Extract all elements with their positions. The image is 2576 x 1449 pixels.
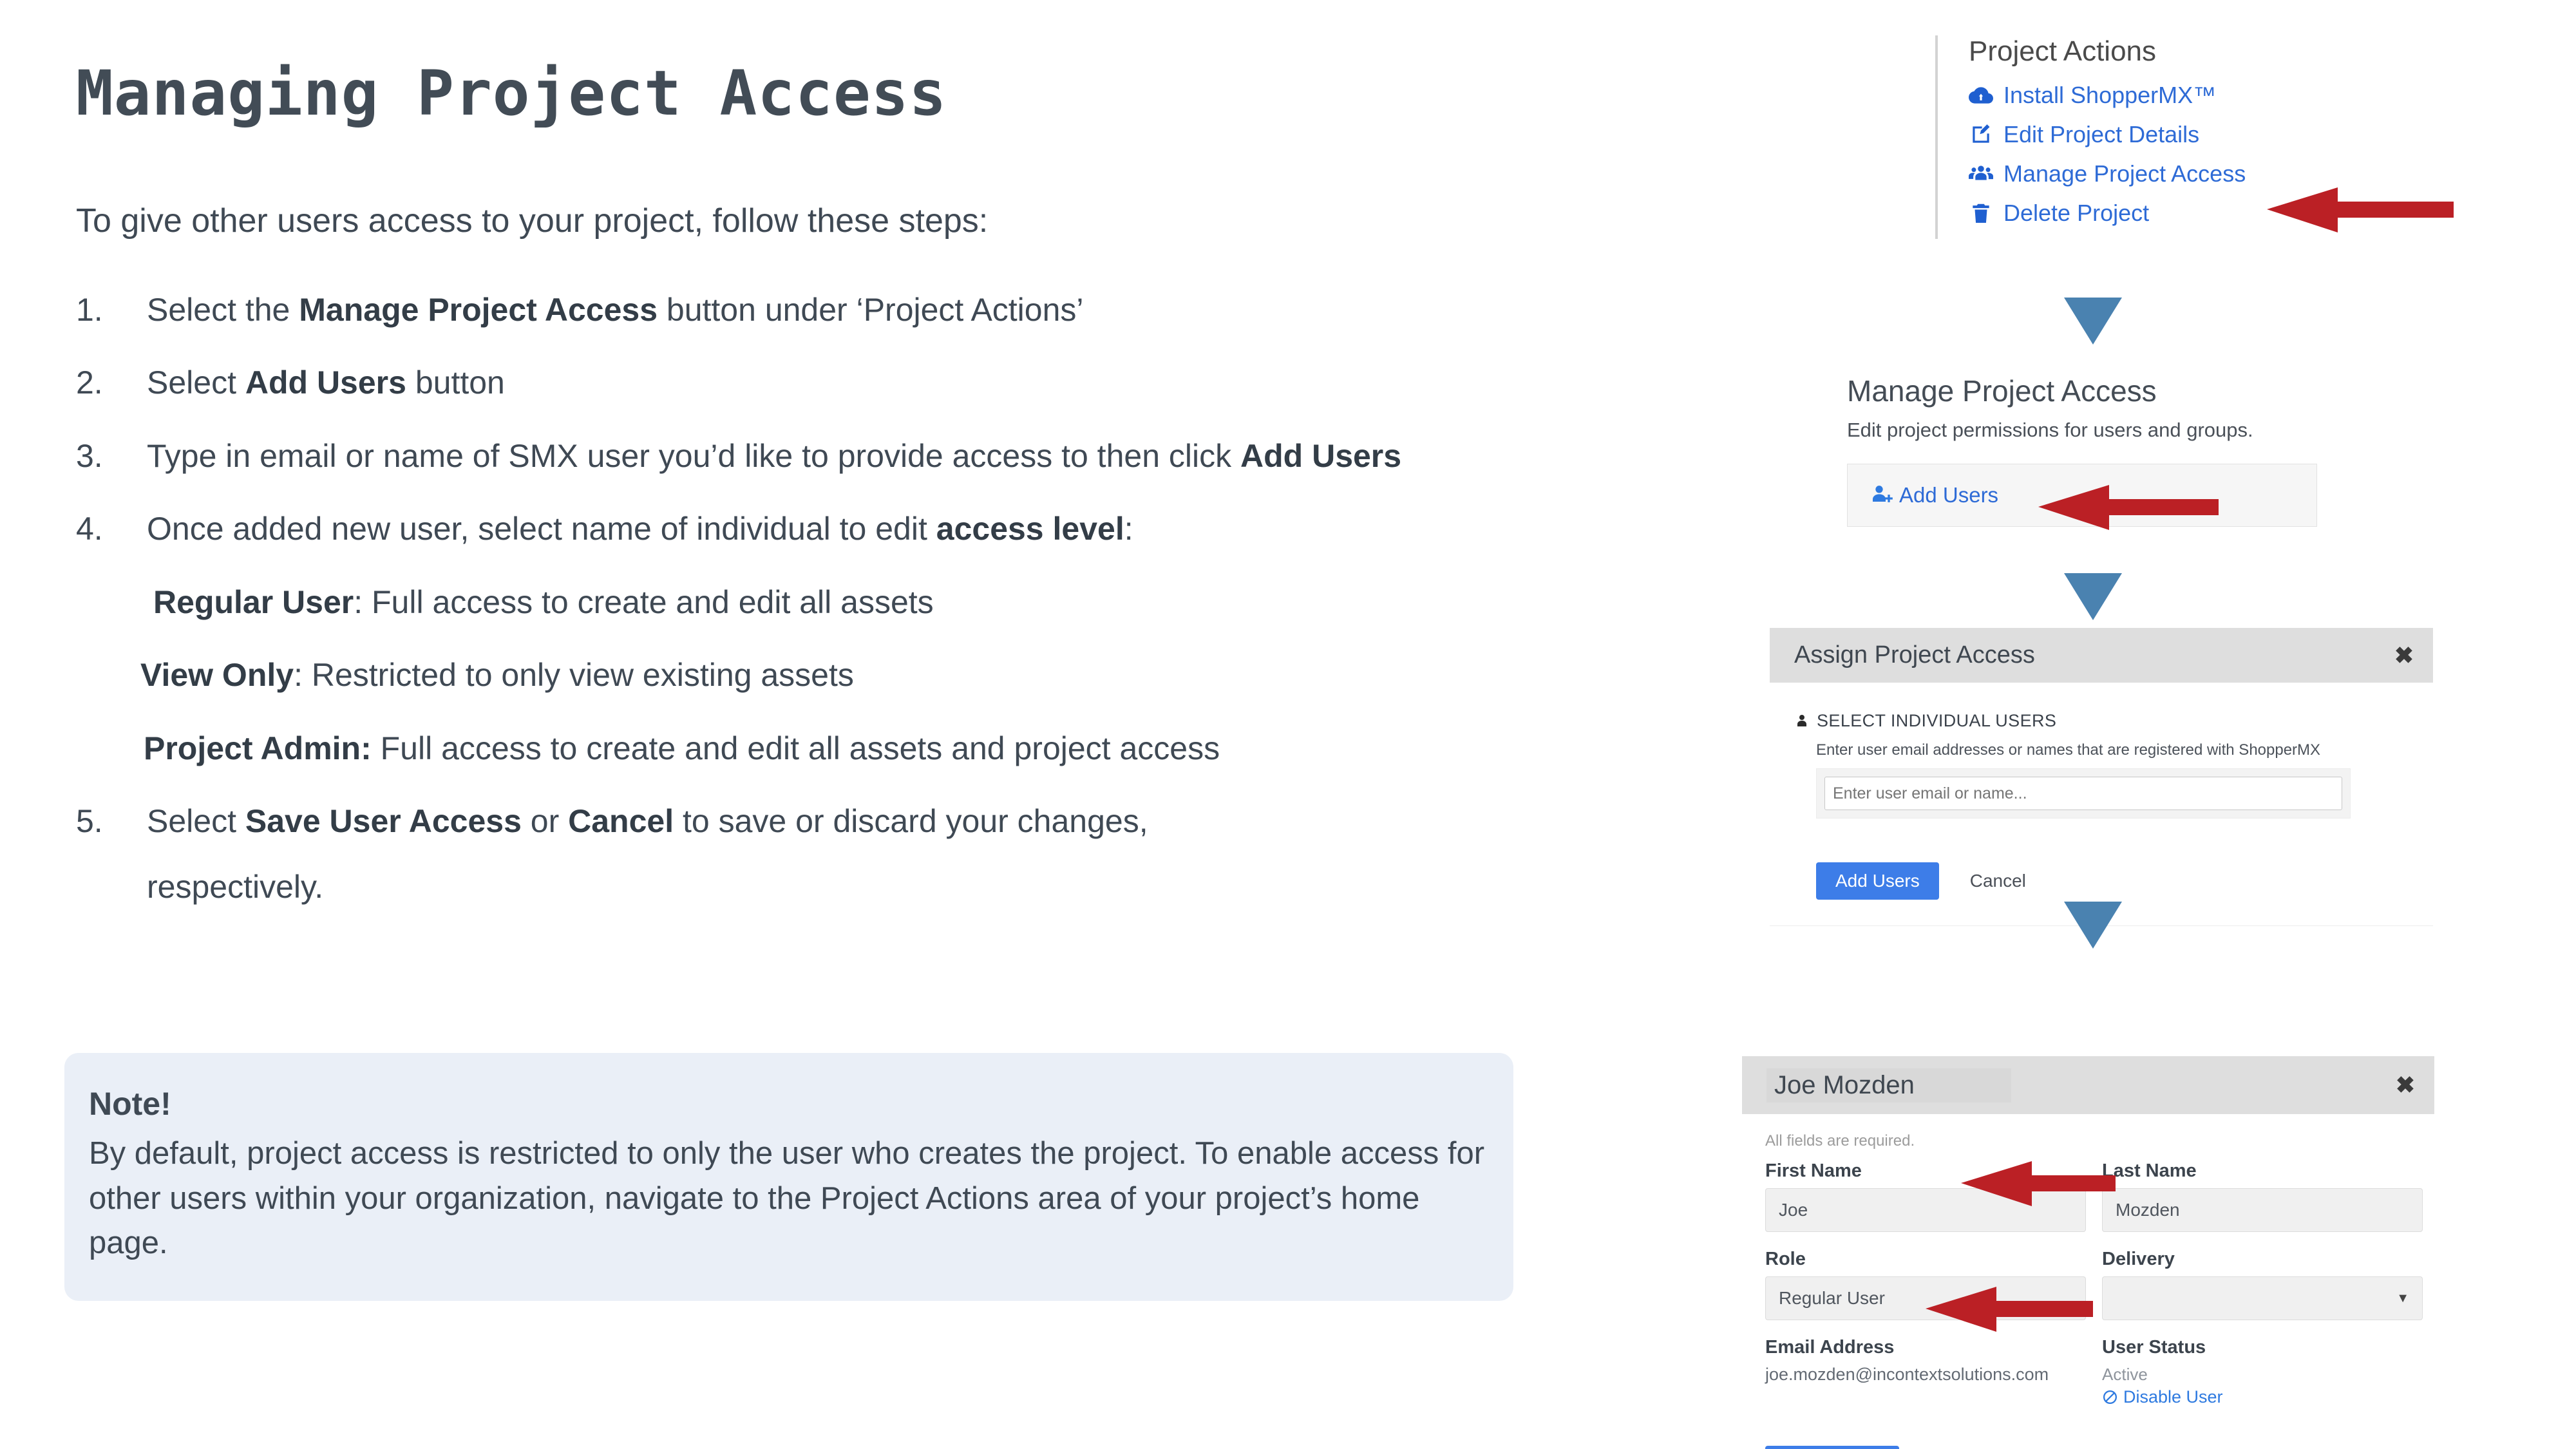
last-name-group: Last Name Mozden [2102, 1160, 2423, 1249]
red-arrow-manage-access [2260, 182, 2454, 237]
dialog-actions: Add Users Cancel [1816, 862, 2433, 900]
edit-pencil-icon [1969, 122, 1993, 147]
list-item: 4. Once added new user, select name of i… [76, 507, 1654, 551]
access-level-regular-user: Regular User: Full access to create and … [153, 581, 1654, 625]
flow-arrow-down-1 [2064, 298, 2122, 345]
step-number: 3. [76, 435, 147, 478]
role-label: Role [1765, 1249, 2086, 1270]
step-text: Type in email or name of SMX user you’d … [147, 435, 1654, 478]
step-text-bold: Manage Project Access [299, 292, 658, 328]
step-text-pre: Select [147, 365, 245, 401]
cloud-download-icon [1969, 83, 1993, 108]
last-name-field[interactable]: Mozden [2102, 1188, 2423, 1232]
close-icon[interactable]: ✖ [2396, 1074, 2415, 1097]
step-text-pre: Select the [147, 292, 299, 328]
dialog-body: SELECT INDIVIDUAL USERS Enter user email… [1770, 683, 2433, 926]
step-text-post: to save or discard your changes, [674, 803, 1148, 839]
delivery-label: Delivery [2102, 1249, 2423, 1270]
step-text-bold-cancel: Cancel [568, 803, 674, 839]
trash-icon [1969, 201, 1993, 225]
section-help-text: Enter user email addresses or names that… [1816, 741, 2433, 759]
step-text-post: button under ‘Project Actions’ [658, 292, 1084, 328]
list-item: 5. Select Save User Access or Cancel to … [76, 800, 1654, 844]
add-users-submit-button[interactable]: Add Users [1816, 862, 1939, 900]
note-callout: Note! By default, project access is rest… [64, 1053, 1513, 1301]
user-plus-icon [1870, 482, 1895, 508]
step-text-post: button [406, 365, 505, 401]
step-text: Select Add Users button [147, 361, 1654, 405]
screenshot-column: Project Actions Install ShopperMX™ Edit … [1707, 0, 2576, 1449]
dialog-header: Assign Project Access ✖ [1770, 628, 2433, 683]
last-name-label: Last Name [2102, 1160, 2423, 1182]
step-number: 1. [76, 289, 147, 332]
status-badge: Active [2102, 1365, 2423, 1385]
step-number: 5. [76, 800, 147, 844]
step-text-mid: or [522, 803, 568, 839]
access-level-desc: Full access to create and edit all asset… [372, 730, 1220, 766]
red-arrow-save-user [1919, 1282, 2093, 1336]
step-text: Select the Manage Project Access button … [147, 289, 1654, 332]
add-users-label: Add Users [1899, 483, 1998, 507]
intro-paragraph: To give other users access to your proje… [76, 200, 1654, 243]
action-edit-project-details[interactable]: Edit Project Details [1969, 121, 2386, 148]
step-text-bold: Add Users [245, 365, 406, 401]
manage-panel-title: Manage Project Access [1847, 374, 2394, 408]
select-individual-users-label: SELECT INDIVIDUAL USERS [1794, 711, 2433, 731]
page-title: Managing Project Access [76, 58, 1654, 129]
list-item: 1. Select the Manage Project Access butt… [76, 289, 1654, 332]
user-search-input[interactable] [1824, 777, 2342, 810]
step-number: 4. [76, 507, 147, 551]
list-item: 2. Select Add Users button [76, 361, 1654, 405]
action-label: Install ShopperMX™ [2003, 82, 2216, 109]
step-text-bold: Add Users [1240, 438, 1401, 474]
delivery-select[interactable]: ▼ [2102, 1276, 2423, 1320]
disable-user-link[interactable]: Disable User [2102, 1387, 2423, 1407]
user-search-field-wrapper [1816, 768, 2351, 819]
action-label: Manage Project Access [2003, 160, 2246, 187]
action-label: Delete Project [2003, 200, 2149, 227]
list-item: 3. Type in email or name of SMX user you… [76, 435, 1654, 478]
close-icon[interactable]: ✖ [2394, 644, 2414, 667]
dialog-title: Assign Project Access [1794, 641, 2035, 669]
assign-project-access-dialog: Assign Project Access ✖ SELECT INDIVIDUA… [1770, 628, 2433, 926]
red-arrow-add-users [2032, 480, 2219, 535]
step-continuation: respectively. [147, 868, 1654, 905]
access-level-desc: : Full access to create and edit all ass… [354, 584, 933, 620]
status-group: User Status Active Disable User [2102, 1337, 2423, 1407]
access-level-name: View Only [140, 657, 294, 693]
project-actions-heading: Project Actions [1969, 35, 2386, 68]
ban-icon [2102, 1389, 2118, 1405]
users-group-icon [1969, 162, 1993, 186]
email-label: Email Address [1765, 1337, 2086, 1358]
action-install-shoppermx[interactable]: Install ShopperMX™ [1969, 82, 2386, 109]
red-arrow-role [1955, 1156, 2116, 1211]
add-users-button[interactable]: Add Users [1870, 482, 1998, 508]
step-text-bold-save: Save User Access [245, 803, 522, 839]
step-text: Once added new user, select name of indi… [147, 507, 1654, 551]
flow-arrow-down-3 [2064, 902, 2122, 949]
steps-list: 1. Select the Manage Project Access butt… [76, 289, 1654, 905]
cancel-button[interactable]: Cancel [1970, 871, 2026, 891]
step-text: Select Save User Access or Cancel to sav… [147, 800, 1654, 844]
email-value: joe.mozden@incontextsolutions.com [1765, 1365, 2086, 1385]
all-fields-required-note: All fields are required. [1765, 1132, 2434, 1150]
person-icon [1794, 712, 1810, 730]
disable-user-label: Disable User [2123, 1387, 2223, 1407]
step-text-post: : [1124, 511, 1133, 547]
slide-canvas: Managing Project Access To give other us… [0, 0, 2576, 1449]
chevron-down-icon: ▼ [2396, 1291, 2409, 1306]
flow-arrow-down-2 [2064, 573, 2122, 620]
section-label-text: SELECT INDIVIDUAL USERS [1817, 711, 2056, 731]
note-title: Note! [89, 1085, 1488, 1122]
save-user-button[interactable]: Save User [1765, 1446, 1899, 1449]
email-group: Email Address joe.mozden@incontextsoluti… [1765, 1337, 2086, 1407]
user-status-label: User Status [2102, 1337, 2423, 1358]
step-text-pre: Select [147, 803, 245, 839]
user-dialog-title: Joe Mozden [1766, 1068, 2011, 1103]
access-level-name: Project Admin: [144, 730, 372, 766]
action-label: Edit Project Details [2003, 121, 2199, 148]
step-number: 2. [76, 361, 147, 405]
access-level-name: Regular User [153, 584, 354, 620]
user-detail-dialog: Joe Mozden ✖ All fields are required. Fi… [1742, 1056, 2434, 1449]
access-level-project-admin: Project Admin: Full access to create and… [144, 727, 1654, 771]
step-text-pre: Type in email or name of SMX user you’d … [147, 438, 1240, 474]
user-dialog-header: Joe Mozden ✖ [1742, 1056, 2434, 1114]
step-text-pre: Once added new user, select name of indi… [147, 511, 936, 547]
step-text-bold: access level [936, 511, 1124, 547]
manage-panel-subtitle: Edit project permissions for users and g… [1847, 419, 2394, 442]
access-level-view-only: View Only: Restricted to only view exist… [140, 654, 1654, 697]
content-column: Managing Project Access To give other us… [76, 58, 1654, 931]
delivery-group: Delivery ▼ [2102, 1249, 2423, 1337]
note-body: By default, project access is restricted… [89, 1132, 1488, 1266]
access-level-desc: : Restricted to only view existing asset… [294, 657, 854, 693]
